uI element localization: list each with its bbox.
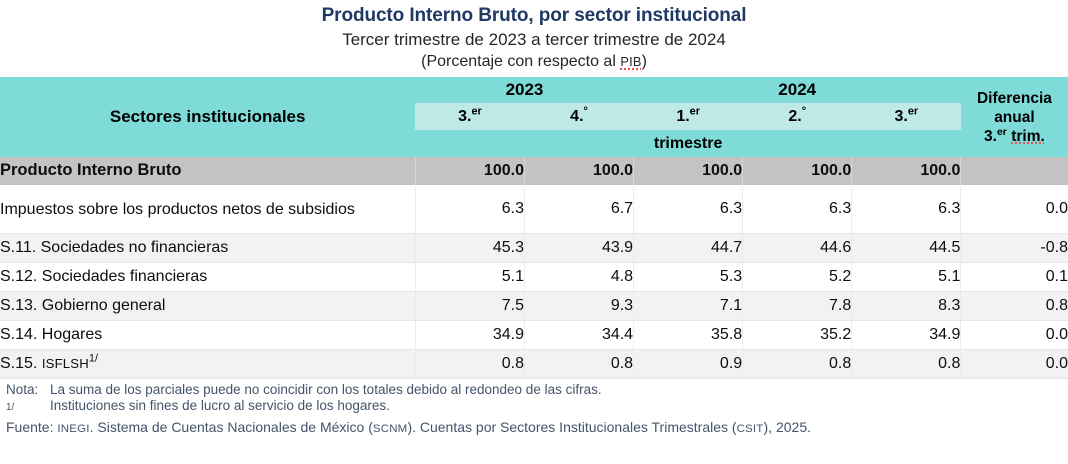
q-sup-1: ° — [584, 105, 588, 117]
cell-value: 100.0 — [852, 157, 961, 185]
header-diferencia-anual: Diferencia anual 3.er trim. — [961, 77, 1068, 157]
row-label-acronym: ISFLSH — [42, 356, 89, 371]
unit-prefix: (Porcentaje con respecto al — [421, 53, 620, 70]
table-figure: Producto Interno Bruto, por sector insti… — [0, 0, 1068, 464]
source-mid-1: . Sistema de Cuentas Nacionales de Méxic… — [90, 419, 373, 435]
source-line: Fuente: INEGI. Sistema de Cuentas Nacion… — [6, 419, 1068, 438]
table-body: Producto Interno Bruto100.0100.0100.0100… — [0, 157, 1068, 378]
row-label: S.11. Sociedades no financieras — [0, 233, 415, 262]
footnote-1-label: 1/ — [6, 400, 50, 417]
row-label: Impuestos sobre los productos netos de s… — [0, 185, 415, 233]
q-num-0: 3. — [458, 108, 471, 125]
cell-value: 6.3 — [743, 185, 852, 233]
cell-value: 44.6 — [743, 233, 852, 262]
cell-value: 7.1 — [634, 291, 743, 320]
table-row: Impuestos sobre los productos netos de s… — [0, 185, 1068, 233]
q-sup-2: er — [690, 105, 700, 117]
diff-line-2: anual — [961, 108, 1068, 127]
header-quarter-2: 1.er — [634, 103, 743, 130]
cell-diferencia-anual: -0.8 — [961, 233, 1068, 262]
cell-value: 43.9 — [524, 233, 633, 262]
q-sup-4: er — [908, 105, 918, 117]
cell-value: 6.3 — [634, 185, 743, 233]
footnote-1-row: 1/ Instituciones sin fines de lucro al s… — [6, 398, 1068, 417]
cell-value: 9.3 — [524, 291, 633, 320]
header-trimestre: trimestre — [415, 130, 960, 157]
row-label-prefix: S.15. — [0, 355, 42, 372]
cell-value: 6.3 — [852, 185, 961, 233]
q-sup-0: er — [471, 105, 481, 117]
page-unit-note: (Porcentaje con respecto al PIB) — [0, 51, 1068, 72]
cell-value: 0.8 — [852, 349, 961, 378]
cell-value: 0.8 — [524, 349, 633, 378]
diff-word: trim. — [1011, 128, 1045, 145]
cell-value: 8.3 — [852, 291, 961, 320]
cell-value: 0.8 — [415, 349, 524, 378]
cell-value: 5.1 — [852, 262, 961, 291]
row-label: S.13. Gobierno general — [0, 291, 415, 320]
header-quarter-4: 3.er — [852, 103, 961, 130]
table-row: S.15. ISFLSH1/0.80.80.90.80.80.0 — [0, 349, 1068, 378]
table-row: S.13. Gobierno general7.59.37.17.88.30.8 — [0, 291, 1068, 320]
cell-value: 5.1 — [415, 262, 524, 291]
page-title: Producto Interno Bruto, por sector insti… — [0, 4, 1068, 28]
cell-value: 100.0 — [743, 157, 852, 185]
row-label: S.15. ISFLSH1/ — [0, 349, 415, 378]
page-subtitle: Tercer trimestre de 2023 a tercer trimes… — [0, 29, 1068, 51]
cell-value: 6.7 — [524, 185, 633, 233]
footnotes: Nota: La suma de los parciales puede no … — [0, 382, 1068, 438]
note-label: Nota: — [6, 382, 50, 399]
source-mid-2: ). Cuentas por Sectores Institucionales … — [407, 419, 736, 435]
q-num-2: 1. — [676, 108, 689, 125]
cell-value: 34.9 — [852, 320, 961, 349]
q-num-3: 2. — [788, 108, 801, 125]
cell-value: 45.3 — [415, 233, 524, 262]
cell-diferencia-anual: 0.0 — [961, 349, 1068, 378]
diff-line-3: 3.er trim. — [961, 127, 1068, 146]
cell-diferencia-anual — [961, 157, 1068, 185]
cell-value: 100.0 — [415, 157, 524, 185]
cell-value: 5.3 — [634, 262, 743, 291]
cell-value: 4.8 — [524, 262, 633, 291]
cell-value: 35.2 — [743, 320, 852, 349]
note-row: Nota: La suma de los parciales puede no … — [6, 382, 1068, 399]
cell-value: 7.8 — [743, 291, 852, 320]
unit-acronym: PIB — [620, 54, 641, 69]
pib-table: Sectores institucionales 2023 2024 Difer… — [0, 77, 1068, 379]
table-row: S.11. Sociedades no financieras45.343.94… — [0, 233, 1068, 262]
row-label: Producto Interno Bruto — [0, 157, 415, 185]
unit-suffix: ) — [642, 53, 647, 70]
header-year-2024: 2024 — [634, 77, 961, 103]
note-text: La suma de los parciales puede no coinci… — [50, 382, 602, 399]
q-num-1: 4. — [570, 108, 583, 125]
cell-value: 5.2 — [743, 262, 852, 291]
cell-value: 34.4 — [524, 320, 633, 349]
header-quarter-1: 4.° — [524, 103, 633, 130]
diff-sup: er — [997, 125, 1007, 137]
q-sup-3: ° — [802, 105, 806, 117]
table-head: Sectores institucionales 2023 2024 Difer… — [0, 77, 1068, 157]
header-sectores: Sectores institucionales — [0, 77, 415, 157]
table-row: S.14. Hogares34.934.435.835.234.90.0 — [0, 320, 1068, 349]
table-row: S.12. Sociedades financieras5.14.85.35.2… — [0, 262, 1068, 291]
cell-value: 35.8 — [634, 320, 743, 349]
q-num-4: 3. — [895, 108, 908, 125]
row-label-footnote-marker: 1/ — [89, 353, 98, 365]
row-label: S.12. Sociedades financieras — [0, 262, 415, 291]
cell-diferencia-anual: 0.8 — [961, 291, 1068, 320]
cell-value: 7.5 — [415, 291, 524, 320]
cell-diferencia-anual: 0.0 — [961, 320, 1068, 349]
cell-value: 44.5 — [852, 233, 961, 262]
cell-value: 100.0 — [634, 157, 743, 185]
cell-value: 44.7 — [634, 233, 743, 262]
cell-value: 34.9 — [415, 320, 524, 349]
cell-diferencia-anual: 0.0 — [961, 185, 1068, 233]
header-quarter-0: 3.er — [415, 103, 524, 130]
cell-diferencia-anual: 0.1 — [961, 262, 1068, 291]
header-row-years: Sectores institucionales 2023 2024 Difer… — [0, 77, 1068, 103]
header-quarter-3: 2.° — [743, 103, 852, 130]
source-end: ), 2025. — [764, 419, 811, 435]
cell-value: 100.0 — [524, 157, 633, 185]
cell-value: 0.8 — [743, 349, 852, 378]
source-csit: CSIT — [737, 423, 764, 435]
diff-num: 3. — [984, 128, 997, 145]
cell-value: 0.9 — [634, 349, 743, 378]
cell-value: 6.3 — [415, 185, 524, 233]
diff-line-1: Diferencia — [961, 89, 1068, 108]
row-label: S.14. Hogares — [0, 320, 415, 349]
source-inegi: INEGI — [57, 423, 89, 435]
source-scnm: SCNM — [373, 423, 408, 435]
header-year-2023: 2023 — [415, 77, 633, 103]
title-block: Producto Interno Bruto, por sector insti… — [0, 0, 1068, 72]
source-label: Fuente: — [6, 419, 57, 435]
footnote-1-text: Instituciones sin fines de lucro al serv… — [50, 398, 390, 415]
table-row: Producto Interno Bruto100.0100.0100.0100… — [0, 157, 1068, 185]
